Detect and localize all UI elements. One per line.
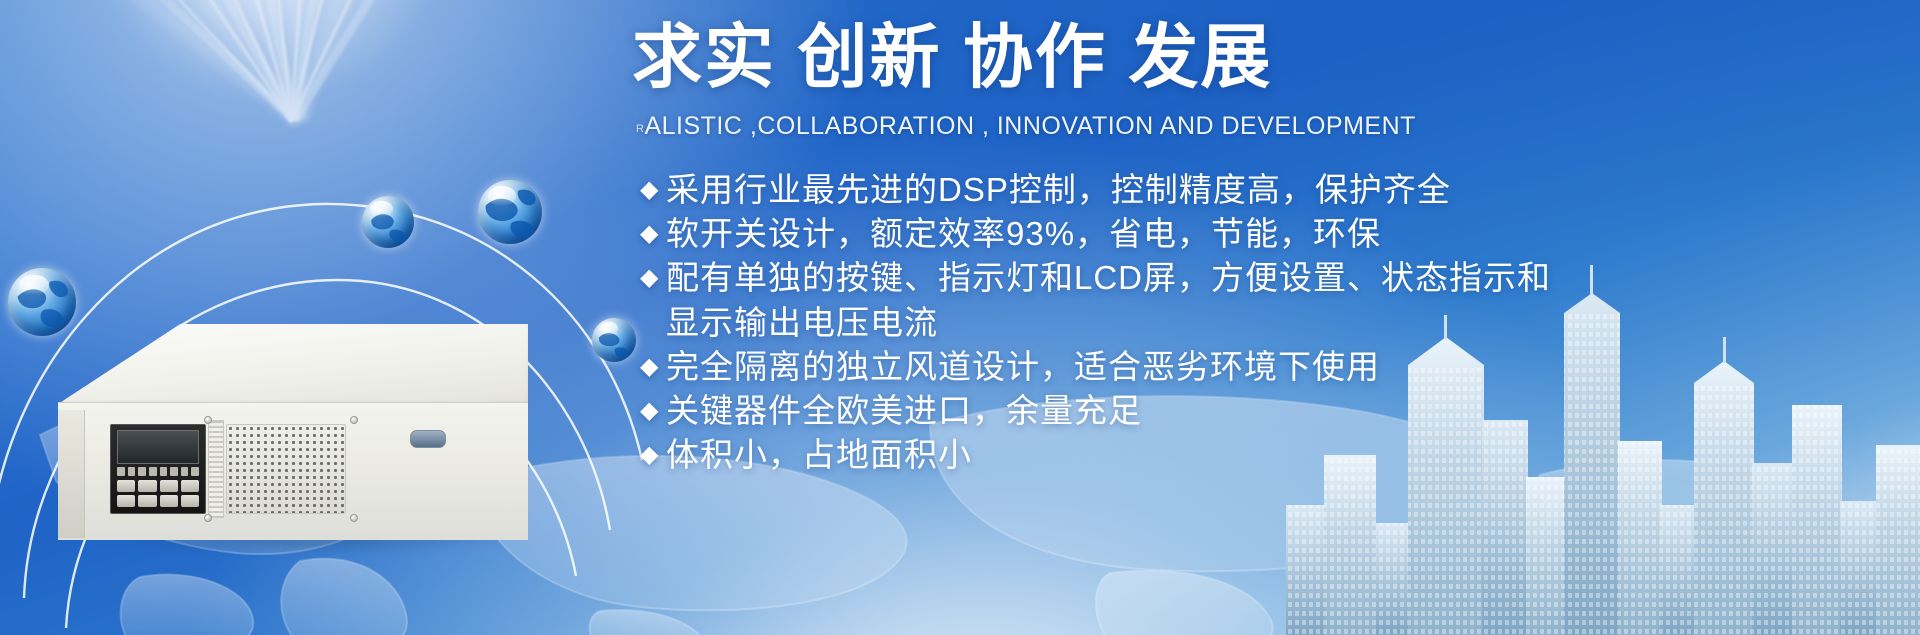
list-item-continuation: ◆ 显示输出电压电流 — [640, 301, 1900, 345]
list-item-label: 软开关设计，额定效率93%，省电，节能，环保 — [666, 212, 1381, 256]
page-title: 求实 创新 协作 发展 — [632, 18, 1272, 96]
promo-banner: 求实 创新 协作 发展 RALISTIC ,COLLABORATION , IN… — [0, 0, 1920, 635]
banner-text-block: 求实 创新 协作 发展 RALISTIC ,COLLABORATION , IN… — [0, 0, 1920, 635]
list-item-label: 关键器件全欧美进口，余量充足 — [666, 389, 1142, 433]
diamond-bullet-icon: ◆ — [640, 256, 666, 300]
list-item: ◆ 体积小，占地面积小 — [640, 433, 1900, 477]
diamond-bullet-icon: ◆ — [640, 345, 666, 389]
subtitle-text: ALISTIC ,COLLABORATION , INNOVATION AND … — [644, 112, 1415, 140]
subtitle: RALISTIC ,COLLABORATION , INNOVATION AND… — [636, 112, 1416, 141]
diamond-bullet-icon: ◆ — [640, 168, 666, 212]
diamond-bullet-icon: ◆ — [640, 433, 666, 477]
subtitle-lead: R — [636, 123, 644, 135]
list-item-label: 采用行业最先进的DSP控制，控制精度高，保护齐全 — [666, 168, 1451, 212]
feature-list: ◆ 采用行业最先进的DSP控制，控制精度高，保护齐全 ◆ 软开关设计，额定效率9… — [640, 168, 1900, 478]
list-item-label: 体积小，占地面积小 — [666, 433, 972, 477]
list-item: ◆ 关键器件全欧美进口，余量充足 — [640, 389, 1900, 433]
diamond-bullet-icon: ◆ — [640, 212, 666, 256]
list-item: ◆ 配有单独的按键、指示灯和LCD屏，方便设置、状态指示和 — [640, 256, 1900, 300]
list-item: ◆ 采用行业最先进的DSP控制，控制精度高，保护齐全 — [640, 168, 1900, 212]
list-item: ◆ 软开关设计，额定效率93%，省电，节能，环保 — [640, 212, 1900, 256]
list-item-label: 显示输出电压电流 — [666, 301, 938, 345]
list-item: ◆ 完全隔离的独立风道设计，适合恶劣环境下使用 — [640, 345, 1900, 389]
list-item-label: 完全隔离的独立风道设计，适合恶劣环境下使用 — [666, 345, 1380, 389]
diamond-bullet-icon: ◆ — [640, 389, 666, 433]
list-item-label: 配有单独的按键、指示灯和LCD屏，方便设置、状态指示和 — [666, 256, 1551, 300]
